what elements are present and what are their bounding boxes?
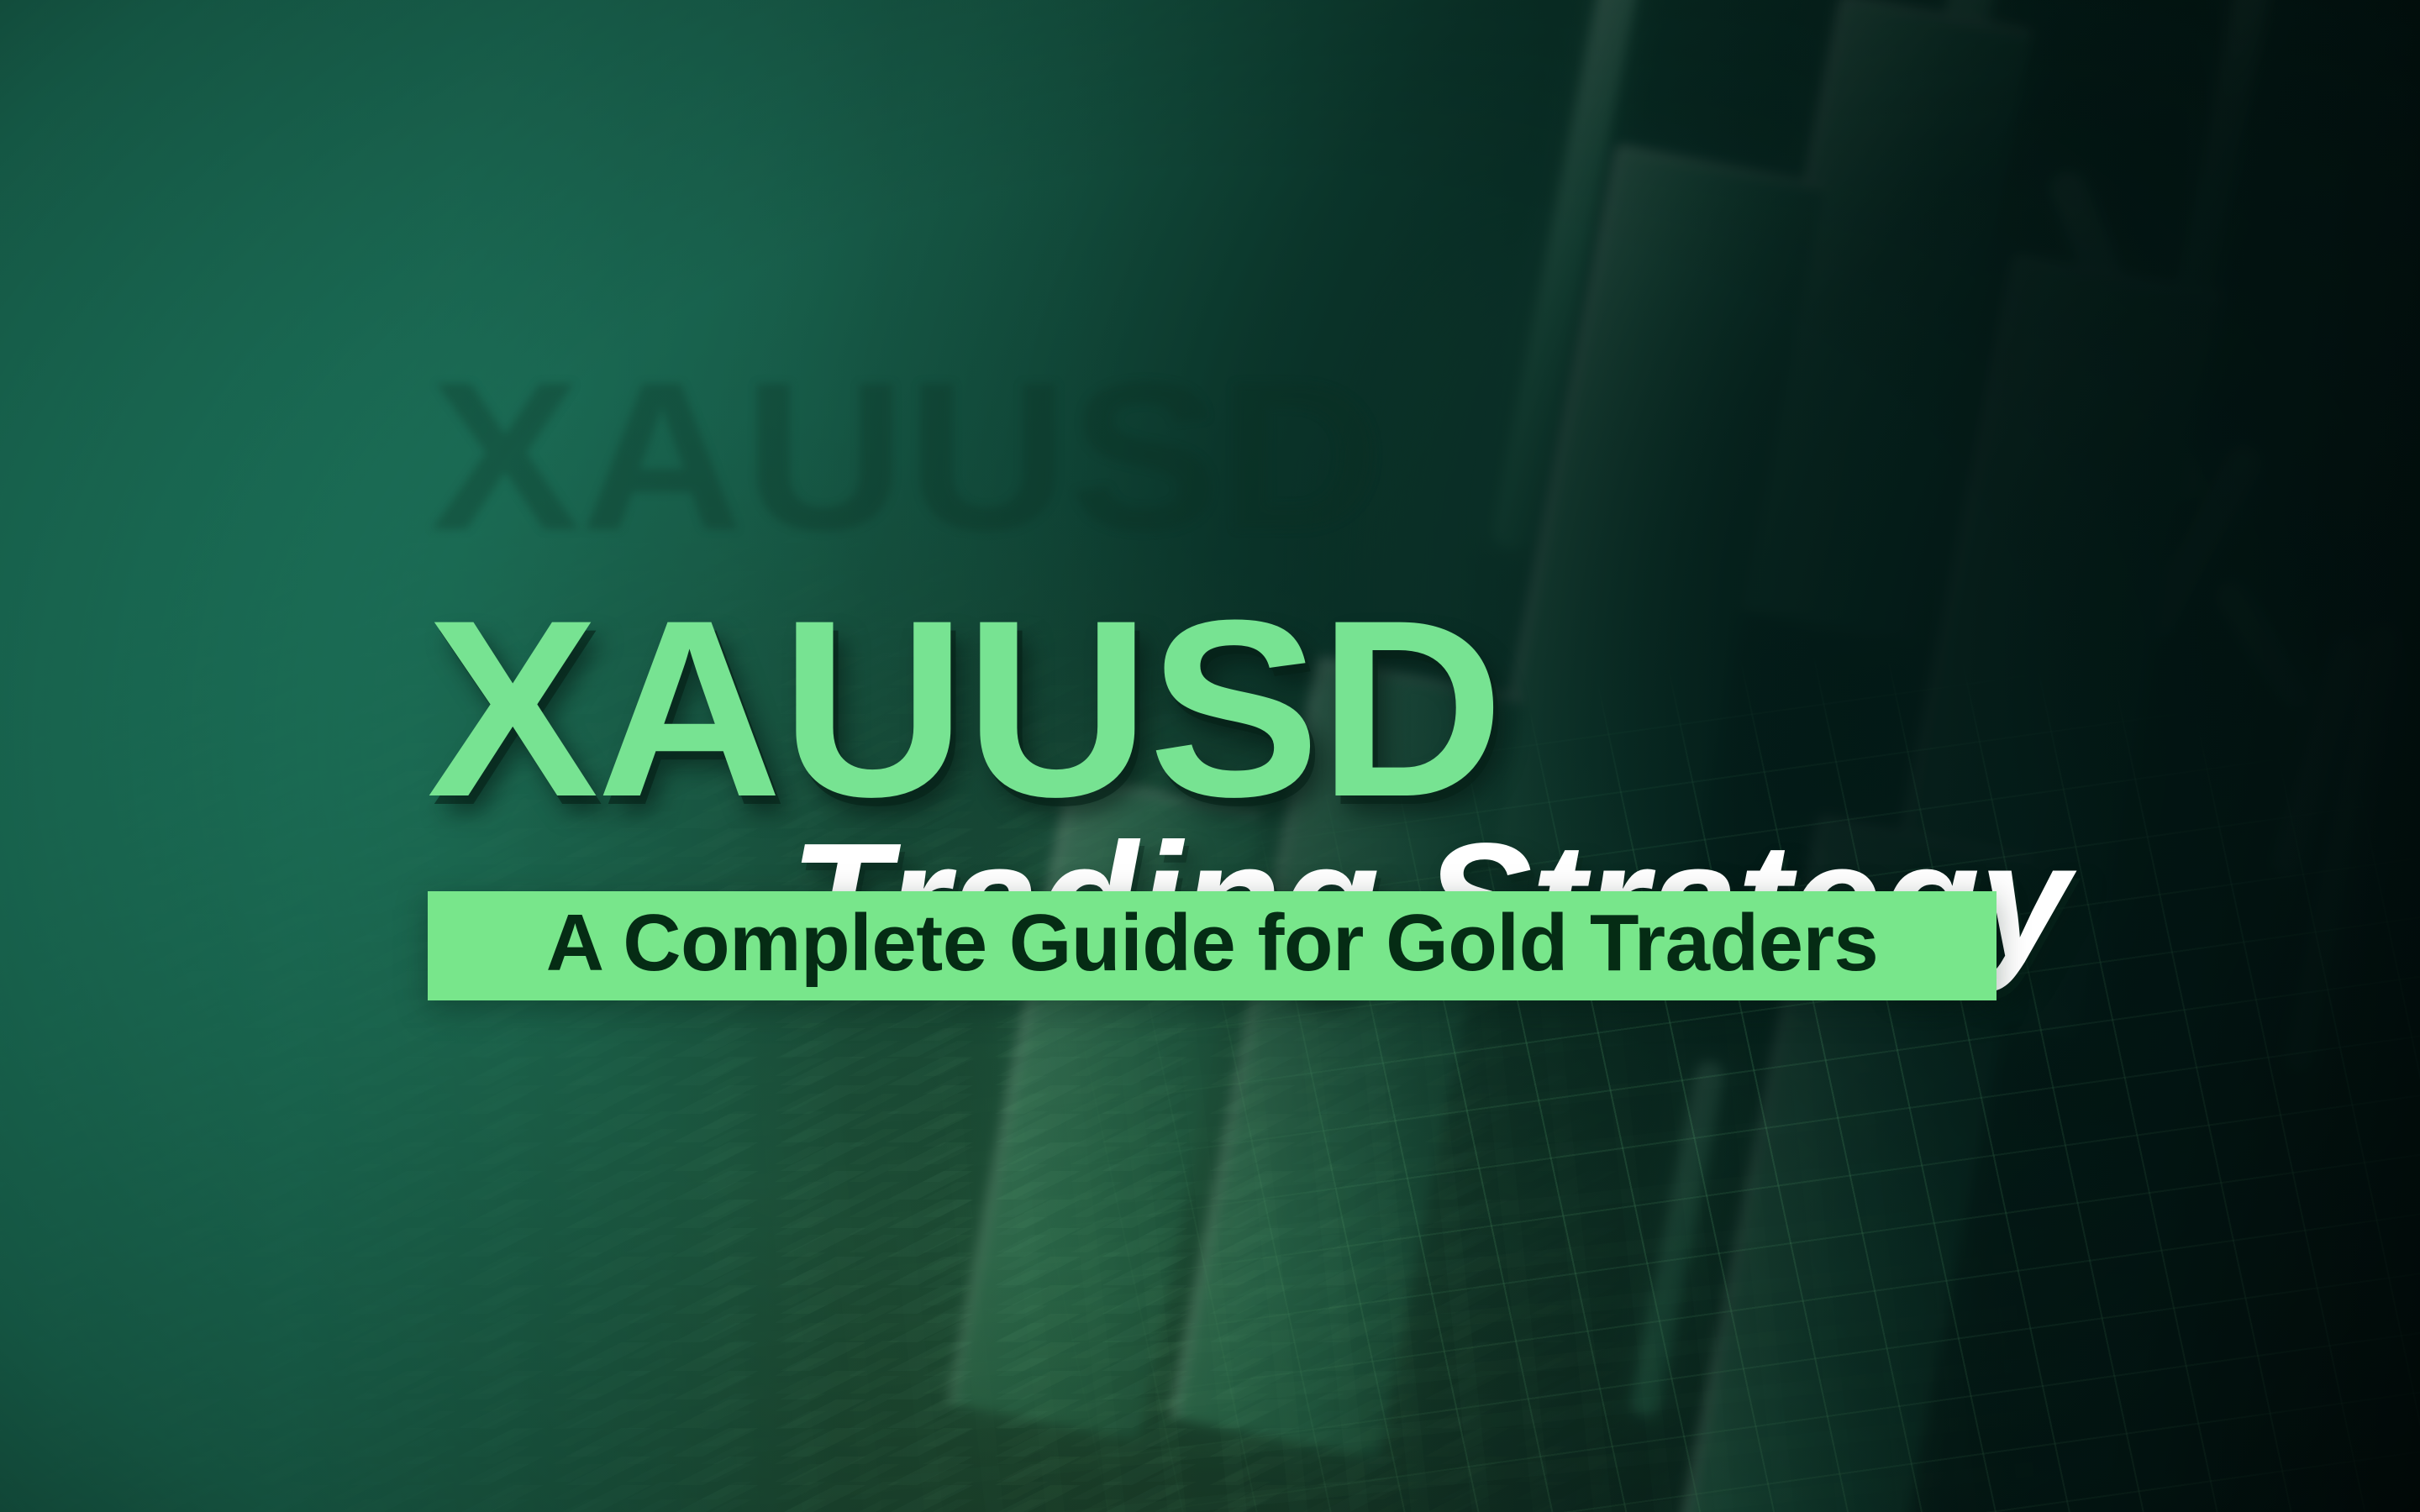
ghost-title-echo: XAUUSD	[430, 351, 1383, 563]
tagline-text: A Complete Guide for Gold Traders	[546, 903, 1879, 984]
hero-content: XAUUSD XAUUSD Trading Strategy A Complet…	[0, 0, 2420, 1512]
page-title: XAUUSD	[427, 589, 1502, 828]
hero-banner: XAUUSD XAUUSD Trading Strategy A Complet…	[0, 0, 2420, 1512]
tagline-banner: A Complete Guide for Gold Traders	[428, 891, 1996, 1000]
